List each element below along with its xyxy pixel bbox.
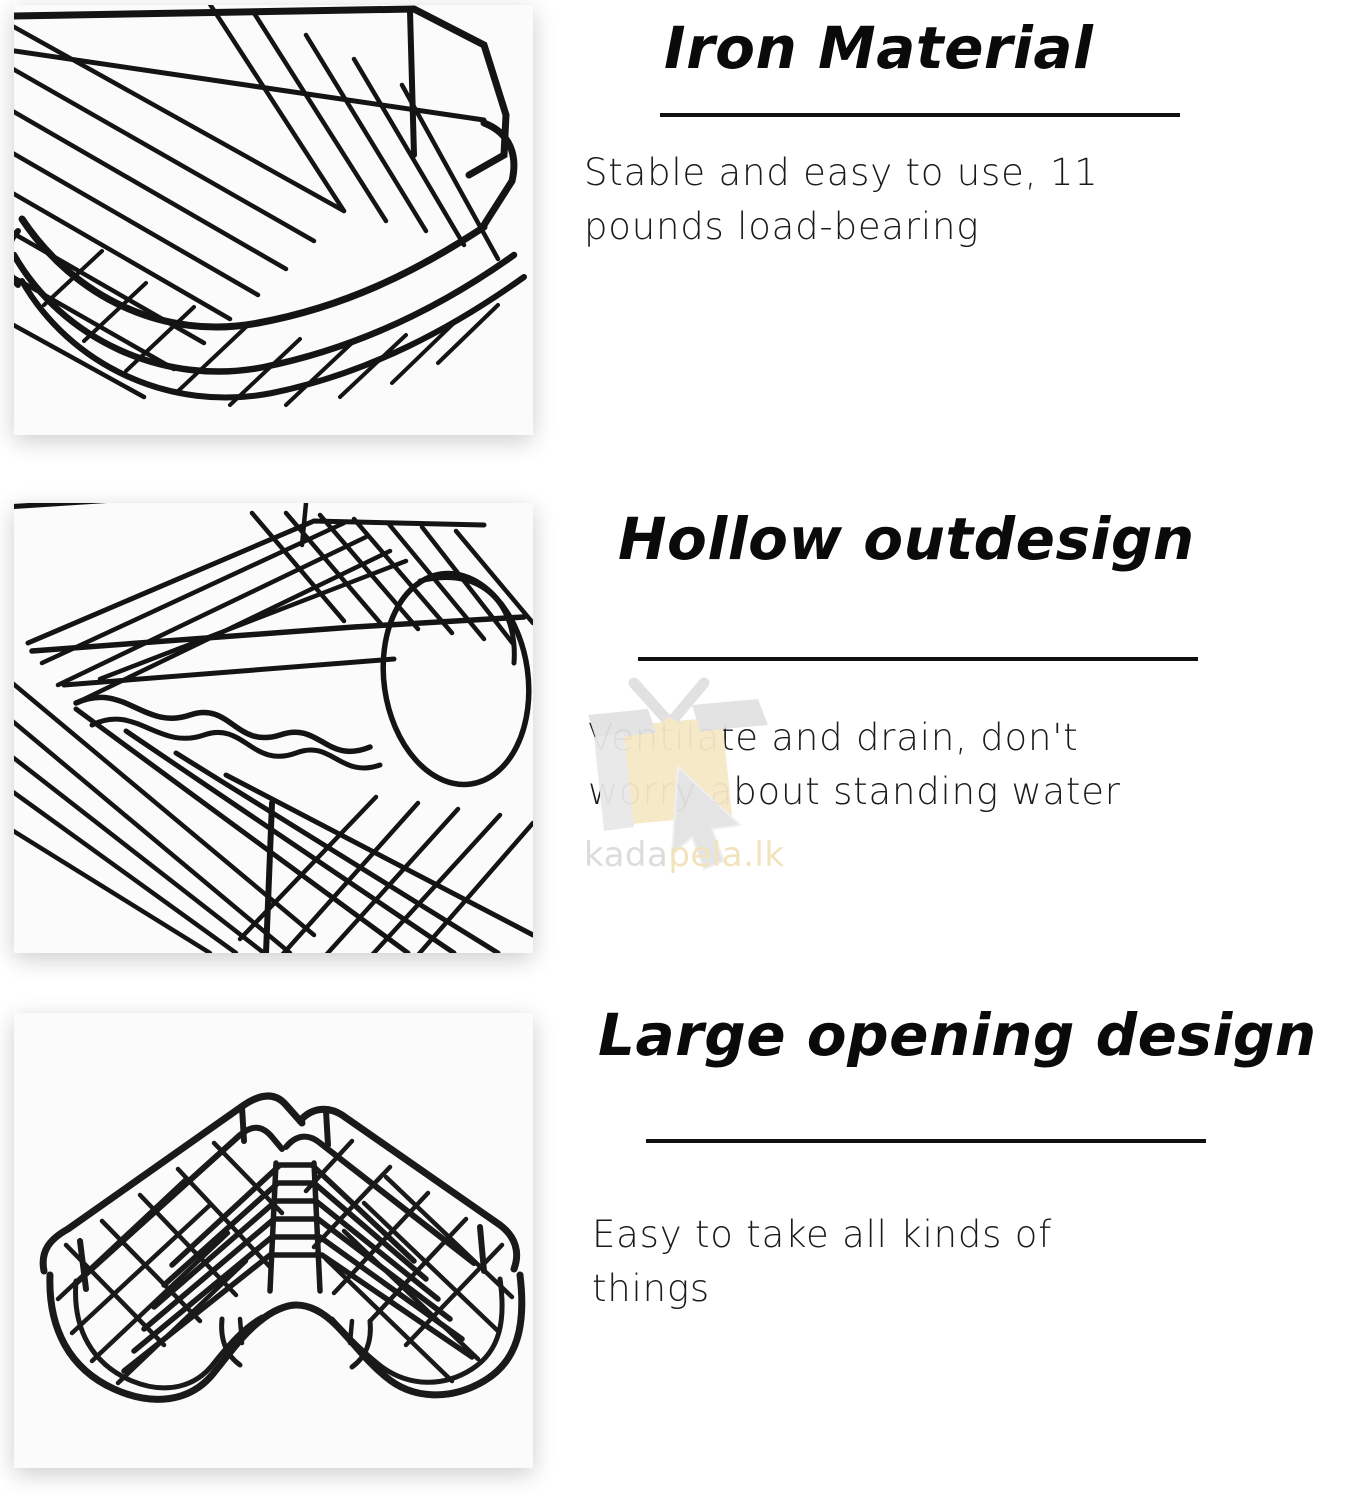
- wire-rack-closeup-illustration: [14, 5, 533, 435]
- infographic-page: Iron Material Stable and easy to use, 11…: [0, 0, 1355, 1500]
- photo-canvas-1: [14, 5, 533, 435]
- feature-body-line-2: things: [592, 1265, 1348, 1313]
- feature-block-hollow-outdesign: Hollow outdesign Ventilate and drain, do…: [0, 495, 1355, 980]
- watermark-text-part-two: pela.lk: [668, 835, 784, 875]
- feature-body-line-2: worry about standing water: [588, 768, 1338, 816]
- feature-headline: Large opening design: [598, 1005, 1348, 1066]
- feature-body-line-1: Ventilate and drain, don't: [588, 714, 1338, 762]
- feature-block-large-opening-design: Large opening design Easy to take all ki…: [0, 1005, 1355, 1495]
- feature-divider: [646, 1139, 1206, 1143]
- product-photo-large-opening-design: [14, 1013, 533, 1468]
- feature-block-iron-material: Iron Material Stable and easy to use, 11…: [0, 0, 1355, 470]
- photo-canvas-3: [14, 1013, 533, 1468]
- product-photo-iron-material: [14, 5, 533, 435]
- feature-copy-hollow-outdesign: Hollow outdesign Ventilate and drain, do…: [578, 495, 1338, 816]
- feature-headline: Iron Material: [664, 18, 1338, 79]
- product-photo-hollow-outdesign: [14, 503, 533, 953]
- feature-divider: [638, 657, 1198, 661]
- feature-body-line-1: Easy to take all kinds of: [592, 1211, 1348, 1259]
- feature-headline: Hollow outdesign: [618, 509, 1338, 570]
- watermark-text: kadapela.lk: [584, 835, 785, 875]
- feature-body-line-2: pounds load-bearing: [584, 203, 1338, 251]
- feature-body-line-1: Stable and easy to use, 11: [584, 149, 1338, 197]
- photo-canvas-2: [14, 503, 533, 953]
- feature-copy-large-opening-design: Large opening design Easy to take all ki…: [578, 1005, 1348, 1313]
- corner-shelf-top-view-illustration: [14, 1013, 533, 1468]
- feature-divider: [660, 113, 1180, 117]
- feature-copy-iron-material: Iron Material Stable and easy to use, 11…: [578, 18, 1338, 251]
- wire-grid-angled-illustration: [14, 503, 533, 953]
- watermark-text-part-one: kada: [584, 835, 668, 875]
